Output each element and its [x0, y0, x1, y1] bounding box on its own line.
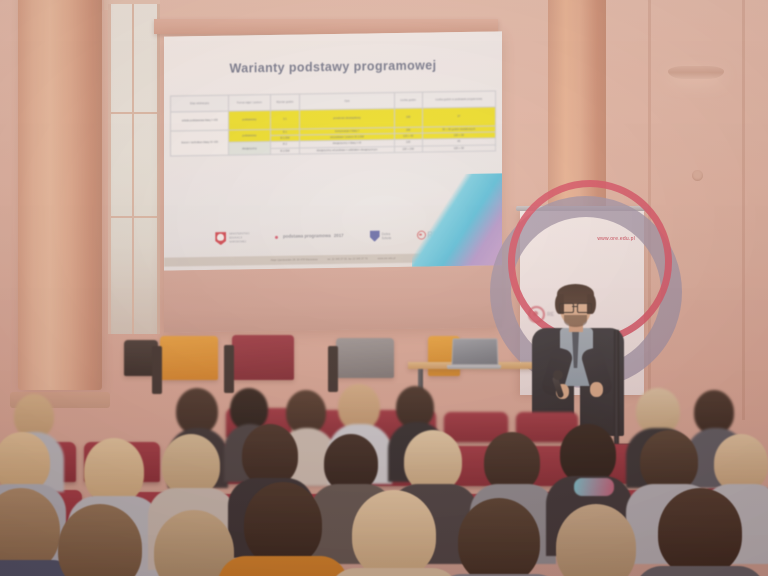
col-level: Forma zajęć / poziom	[229, 94, 270, 111]
glasses-icon	[559, 303, 592, 311]
stage-chair-grey	[336, 338, 394, 378]
col-desc: Opis	[300, 93, 394, 110]
stage-chair-maroon	[232, 335, 294, 380]
presentation-slide: Warianty podstawy programowej Etap eduka…	[164, 31, 502, 270]
cell-stage: liceum i technikum klasy IV–VIII	[171, 130, 229, 156]
slide-title: Warianty podstawy programowej	[164, 57, 502, 76]
polish-eagle-icon	[215, 232, 226, 245]
col-stage: Etap edukacyjny	[171, 95, 229, 112]
shield-icon	[370, 231, 380, 242]
cell-level: podstawowy	[229, 129, 270, 142]
cell-stage: szkoła podstawowa klasy I–VIII	[171, 111, 229, 131]
laptop-base	[447, 365, 501, 369]
cell-hours: 190	[394, 108, 422, 127]
projection-screen: Warianty podstawy programowej Etap eduka…	[164, 31, 502, 332]
stage-chair-orange-1	[160, 336, 218, 380]
col-hours: Liczba godzin	[394, 92, 422, 108]
slide-corner-decoration	[412, 173, 502, 266]
audience	[0, 376, 768, 576]
window-left	[108, 4, 160, 334]
bullet-icon	[275, 236, 278, 239]
projection-screen-lower-blank	[164, 265, 502, 332]
banner-url-text: www.ore.edu.pl	[597, 236, 635, 242]
dobra-szkola-logo: Dobra Szkoła	[370, 230, 392, 241]
podstawa-programowa-logo: podstawa programowa 2017	[275, 234, 343, 240]
address-text: Aleje Ujazdowskie 28, 00-478 Warszawa	[271, 258, 318, 262]
presenter-beard	[564, 315, 587, 327]
col-total: Liczba godzin w podstawie programowej	[422, 91, 495, 108]
wall-sconce-light	[668, 66, 724, 79]
godlo-polski-logo: MINISTERSTWO EDUKACJI NARODOWEJ	[215, 232, 249, 246]
wall-seam-far-right	[742, 0, 745, 420]
cell-desc: przedmiot obowiązkowy	[300, 109, 394, 129]
cell-total: 120 + 30	[422, 145, 495, 152]
wall-knob	[692, 170, 703, 181]
cell-level: dwujęzyczny	[229, 142, 270, 155]
conference-photo: Warianty podstawy programowej Etap eduka…	[0, 0, 768, 576]
cell-code: 3.1	[270, 110, 300, 129]
cell-level: podstawowy	[229, 110, 270, 130]
cell-hours: 120 + 240	[394, 146, 422, 153]
cell-total: 37	[422, 107, 495, 127]
laptop-screen	[451, 338, 498, 365]
column-left	[18, 0, 102, 390]
slide-table: Etap edukacyjny Forma zajęć / poziom Wym…	[170, 90, 496, 156]
cell-desc: dwujęzyczny od podstaw z oddziałem dwuję…	[300, 146, 394, 154]
cell-code: III.2.DW	[270, 148, 300, 155]
phone-text: tel. 22 345 37 00, fax 22 345 37 70	[328, 257, 368, 261]
presenter-laptop	[452, 338, 501, 369]
col-code: Wymiar godzin	[270, 94, 300, 110]
website-text: www.ore.edu.pl	[378, 257, 396, 260]
